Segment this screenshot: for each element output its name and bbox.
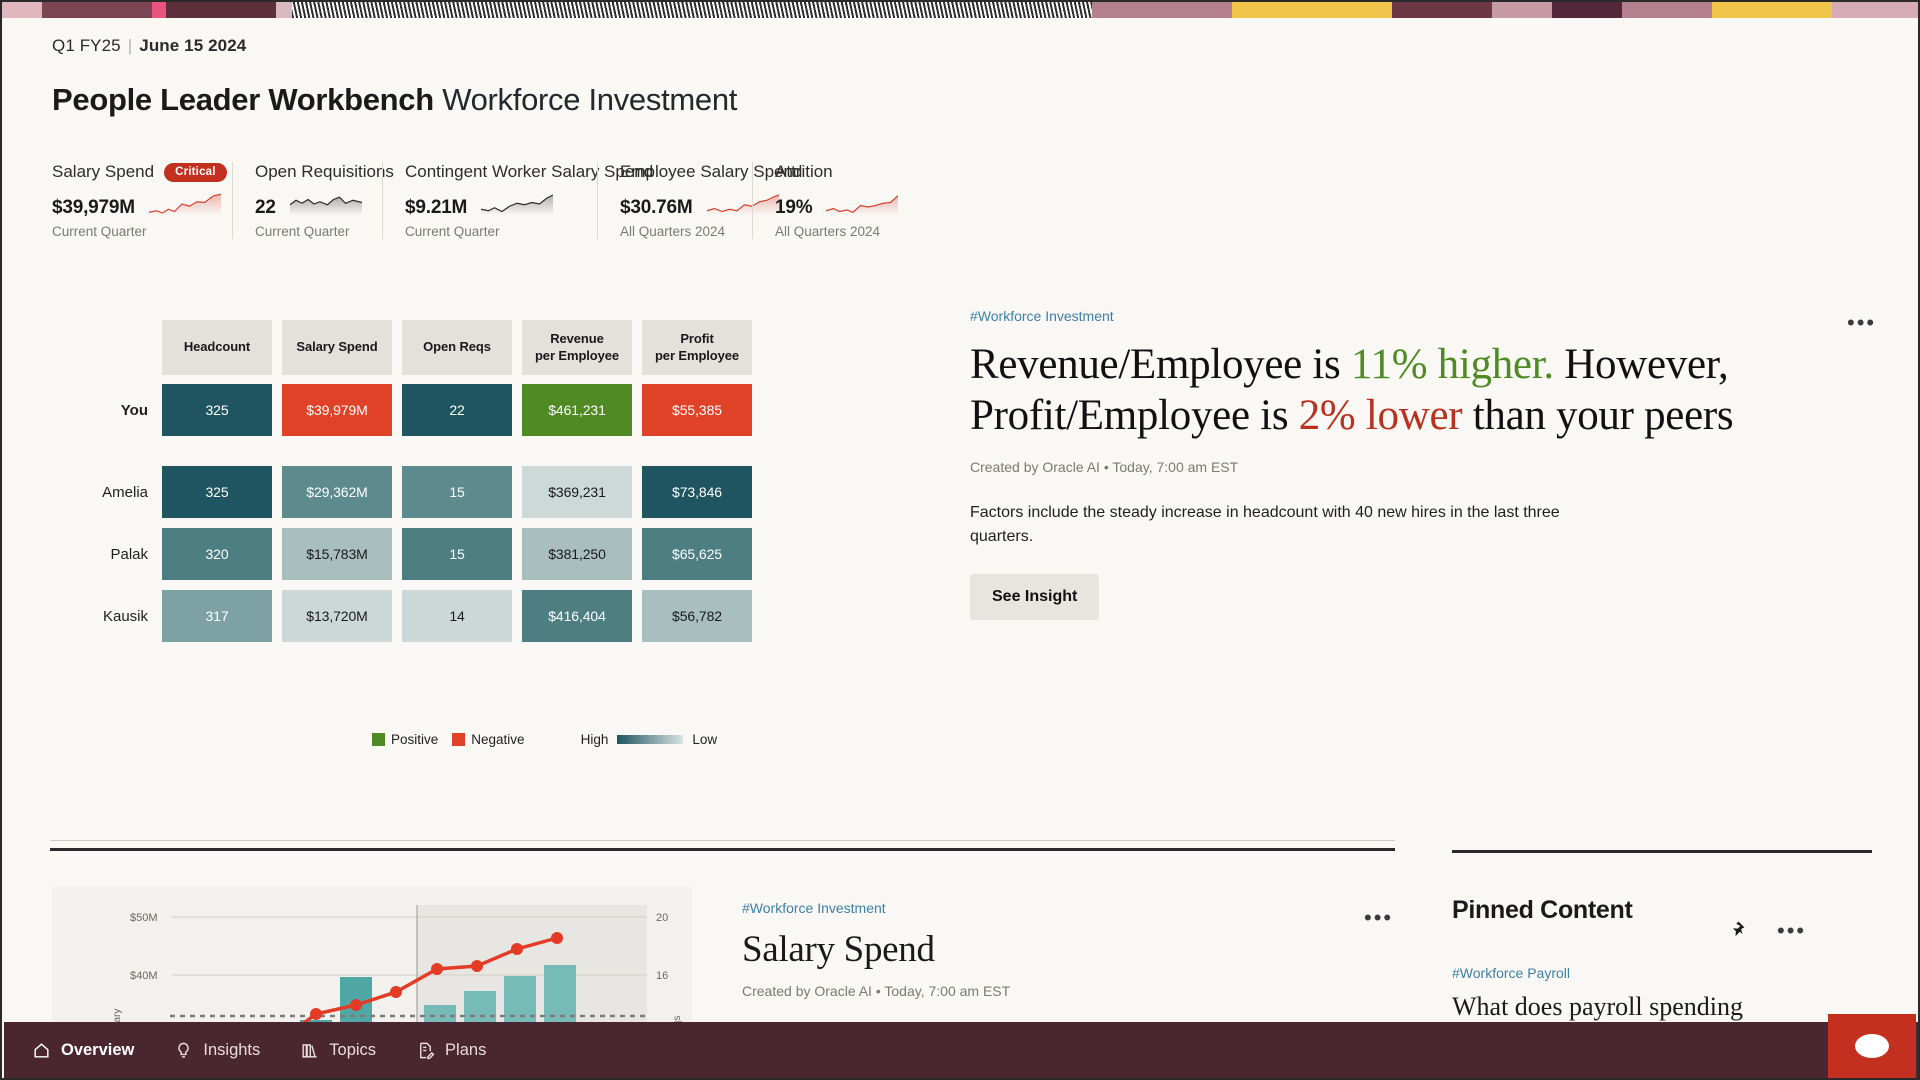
cell-0-3[interactable]: $461,231 — [522, 384, 632, 436]
cell-0-0[interactable]: 325 — [162, 384, 272, 436]
page-title-light: Workforce Investment — [442, 82, 737, 117]
nav-label-0: Overview — [61, 1041, 134, 1060]
page-title-strong: People Leader Workbench — [52, 82, 434, 117]
kpi-value-0: $39,979M — [52, 197, 135, 219]
row-label-0: You — [98, 402, 162, 419]
table-row[interactable]: Palak320$15,783M15$381,250$65,625 — [98, 528, 762, 580]
cell-1-3[interactable]: $369,231 — [522, 466, 632, 518]
kpi-value-4: 19% — [775, 197, 812, 219]
pinned-item[interactable]: #Workforce Payroll What does payroll spe… — [1452, 965, 1872, 1024]
kpi-value-1: 22 — [255, 197, 276, 219]
section-divider-right — [1452, 850, 1872, 853]
pinned-content-title: Pinned Content — [1452, 896, 1872, 925]
legend-negative: Negative — [452, 732, 524, 747]
article-byline: Created by Oracle AI • Today, 7:00 am ES… — [742, 983, 1282, 999]
breadcrumb: Q1 FY25|June 15 2024 — [52, 36, 737, 56]
kpi-subtitle-2: Current Quarter — [405, 224, 571, 239]
cell-2-1[interactable]: $15,783M — [282, 528, 392, 580]
kpi-card-3[interactable]: Employee Salary Spend $30.76M All Quarte… — [597, 162, 752, 239]
article-title[interactable]: Salary Spend — [742, 928, 1282, 971]
legend-positive-label: Positive — [391, 732, 438, 747]
kpi-subtitle-0: Current Quarter — [52, 224, 202, 239]
kpi-card-1[interactable]: Open Requisitions 22 Current Quarter — [232, 162, 382, 239]
insight-tag[interactable]: #Workforce Investment — [970, 308, 1790, 324]
sparkline-4 — [826, 189, 898, 219]
pinned-content-panel: Pinned Content #Workforce Payroll What d… — [1452, 882, 1872, 1024]
kpi-mid-1: 22 — [255, 189, 356, 219]
page-header: Q1 FY25|June 15 2024 People Leader Workb… — [52, 36, 737, 118]
page-title: People Leader Workbench Workforce Invest… — [52, 82, 737, 118]
color-ramp — [617, 735, 683, 744]
kpi-top-1: Open Requisitions — [255, 162, 356, 182]
sparkline-2 — [481, 189, 553, 219]
sparkline-0 — [149, 189, 221, 219]
cell-3-1[interactable]: $13,720M — [282, 590, 392, 642]
pinned-kebab-menu[interactable]: ••• — [1777, 920, 1806, 942]
kpi-subtitle-1: Current Quarter — [255, 224, 356, 239]
kpi-subtitle-4: All Quarters 2024 — [775, 224, 876, 239]
section-divider-left — [50, 848, 1395, 851]
kpi-value-3: $30.76M — [620, 197, 693, 219]
nav-item-overview[interactable]: Overview — [32, 1041, 134, 1060]
article-kebab-menu[interactable]: ••• — [1364, 907, 1393, 929]
cell-3-2[interactable]: 14 — [402, 590, 512, 642]
pinned-item-headline[interactable]: What does payroll spending — [1452, 991, 1872, 1024]
cell-2-3[interactable]: $381,250 — [522, 528, 632, 580]
insight-byline: Created by Oracle AI • Today, 7:00 am ES… — [970, 459, 1790, 475]
insight-headline: Revenue/Employee is 11% higher. However,… — [970, 340, 1790, 441]
headline-part-3: than your peers — [1462, 392, 1733, 439]
cell-3-0[interactable]: 317 — [162, 590, 272, 642]
cell-0-4[interactable]: $55,385 — [642, 384, 752, 436]
column-header-0: Headcount — [162, 320, 272, 375]
cell-1-2[interactable]: 15 — [402, 466, 512, 518]
kpi-strip: Salary Spend Critical $39,979M Current Q… — [52, 162, 902, 239]
column-header-3: Revenueper Employee — [522, 320, 632, 375]
kpi-status-badge: Critical — [164, 163, 227, 182]
negative-swatch — [452, 733, 465, 746]
column-header-4: Profitper Employee — [642, 320, 752, 375]
app-window: Q1 FY25|June 15 2024 People Leader Workb… — [0, 0, 1920, 1080]
books-icon — [300, 1041, 319, 1060]
comparison-legend: Positive Negative High Low — [372, 732, 717, 747]
insight-panel: #Workforce Investment Revenue/Employee i… — [970, 308, 1790, 620]
pinned-item-tag[interactable]: #Workforce Payroll — [1452, 965, 1872, 981]
table-header-row: HeadcountSalary SpendOpen ReqsRevenueper… — [98, 320, 762, 375]
breadcrumb-separator: | — [128, 36, 133, 55]
kpi-mid-0: $39,979M — [52, 189, 202, 219]
table-row[interactable]: You325$39,979M22$461,231$55,385 — [98, 384, 762, 436]
kpi-card-4[interactable]: Attrition 19% All Quarters 2024 — [752, 162, 902, 239]
positive-swatch — [372, 733, 385, 746]
legend-low-label: Low — [692, 732, 717, 747]
fiscal-period: Q1 FY25 — [52, 36, 121, 55]
nav-item-insights[interactable]: Insights — [174, 1041, 260, 1060]
column-header-1: Salary Spend — [282, 320, 392, 375]
kpi-mid-2: $9.21M — [405, 189, 571, 219]
svg-text:$40M: $40M — [130, 970, 158, 982]
nav-item-plans[interactable]: Plans — [416, 1041, 486, 1060]
kpi-top-0: Salary Spend Critical — [52, 162, 202, 182]
row-label-3: Kausik — [98, 608, 162, 625]
legend-positive: Positive — [372, 732, 438, 747]
cell-2-2[interactable]: 15 — [402, 528, 512, 580]
insight-body: Factors include the steady increase in h… — [970, 501, 1570, 547]
decorative-banner — [2, 2, 1920, 18]
kpi-top-4: Attrition — [775, 162, 876, 182]
svg-text:$50M: $50M — [130, 912, 158, 924]
kpi-value-2: $9.21M — [405, 197, 467, 219]
sparkline-1 — [290, 189, 362, 219]
headline-highlight-positive: 11% higher. — [1351, 341, 1554, 388]
see-insight-button[interactable]: See Insight — [970, 574, 1099, 620]
headline-highlight-negative: 2% lower — [1299, 392, 1463, 439]
cell-3-4[interactable]: $56,782 — [642, 590, 752, 642]
kpi-label-1: Open Requisitions — [255, 162, 394, 182]
table-row[interactable]: Amelia325$29,362M15$369,231$73,846 — [98, 466, 762, 518]
legend-negative-label: Negative — [471, 732, 524, 747]
cell-1-4[interactable]: $73,846 — [642, 466, 752, 518]
kpi-label-0: Salary Spend — [52, 162, 154, 182]
kpi-top-2: Contingent Worker Salary Spend — [405, 162, 571, 182]
kpi-label-4: Attrition — [775, 162, 833, 182]
home-icon — [32, 1041, 51, 1060]
insight-kebab-menu[interactable]: ••• — [1847, 312, 1876, 334]
document-edit-icon — [416, 1041, 435, 1060]
legend-high-label: High — [581, 732, 609, 747]
cell-2-4[interactable]: $65,625 — [642, 528, 752, 580]
kpi-mid-3: $30.76M — [620, 189, 726, 219]
cell-0-2[interactable]: 22 — [402, 384, 512, 436]
lightbulb-icon — [174, 1041, 193, 1060]
column-header-2: Open Reqs — [402, 320, 512, 375]
pin-icon[interactable] — [1728, 920, 1746, 943]
nav-label-1: Insights — [203, 1041, 260, 1060]
headline-part-1: Revenue/Employee is — [970, 341, 1351, 388]
oracle-logo-icon — [1855, 1034, 1889, 1058]
bottom-navigation: Overview Insights Topics Plans — [4, 1022, 1920, 1078]
nav-item-topics[interactable]: Topics — [300, 1041, 376, 1060]
cell-3-3[interactable]: $416,404 — [522, 590, 632, 642]
cell-1-0[interactable]: 325 — [162, 466, 272, 518]
kpi-card-0[interactable]: Salary Spend Critical $39,979M Current Q… — [52, 162, 232, 239]
peer-comparison-table: HeadcountSalary SpendOpen ReqsRevenueper… — [98, 320, 762, 652]
kpi-card-2[interactable]: Contingent Worker Salary Spend $9.21M Cu… — [382, 162, 597, 239]
svg-text:20: 20 — [656, 912, 668, 924]
kpi-mid-4: 19% — [775, 189, 876, 219]
section-divider-hairline — [50, 840, 1395, 841]
legend-scale: High Low — [581, 732, 718, 747]
kpi-subtitle-3: All Quarters 2024 — [620, 224, 726, 239]
nav-label-3: Plans — [445, 1041, 486, 1060]
kpi-top-3: Employee Salary Spend — [620, 162, 726, 182]
nav-label-2: Topics — [329, 1041, 376, 1060]
article-tag[interactable]: #Workforce Investment — [742, 900, 1282, 916]
cell-2-0[interactable]: 320 — [162, 528, 272, 580]
cell-0-1[interactable]: $39,979M — [282, 384, 392, 436]
row-label-2: Palak — [98, 546, 162, 563]
cell-1-1[interactable]: $29,362M — [282, 466, 392, 518]
table-row[interactable]: Kausik317$13,720M14$416,404$56,782 — [98, 590, 762, 642]
row-label-1: Amelia — [98, 484, 162, 501]
report-date: June 15 2024 — [139, 36, 246, 55]
oracle-assistant-button[interactable] — [1828, 1014, 1916, 1078]
svg-text:16: 16 — [656, 970, 668, 982]
article-card: #Workforce Investment Salary Spend Creat… — [742, 900, 1282, 999]
